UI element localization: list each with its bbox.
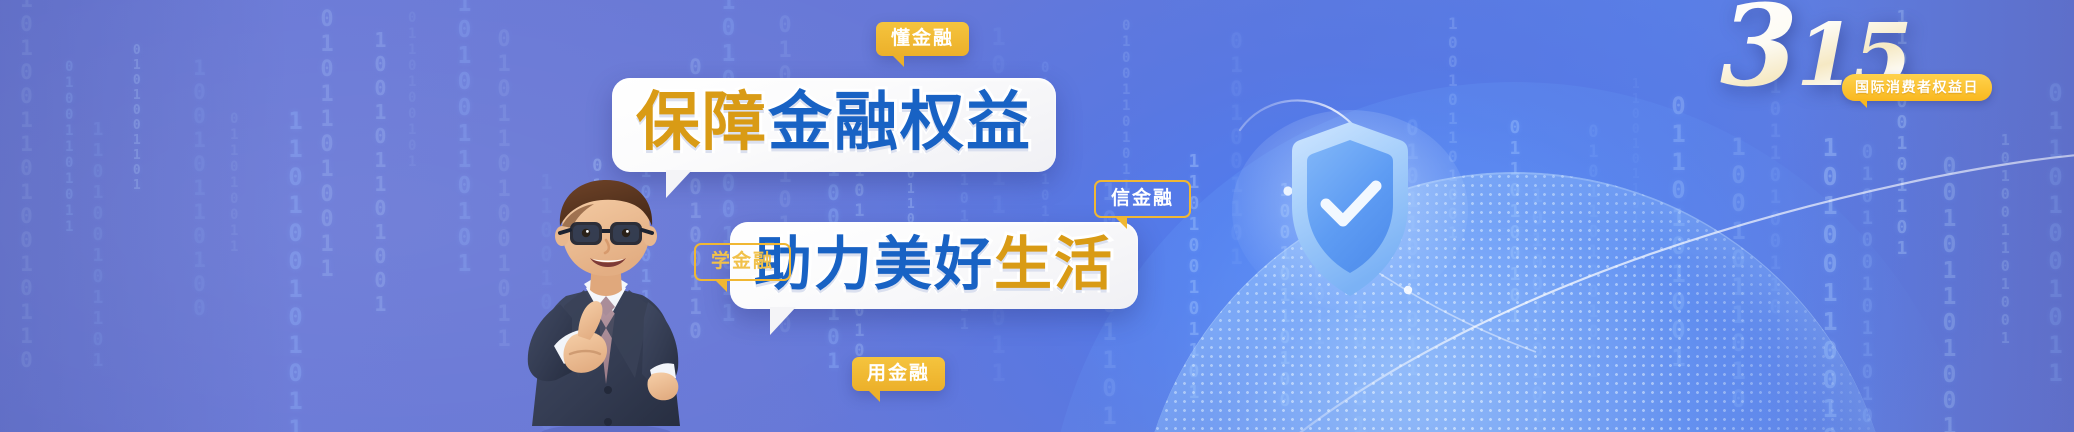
businessman-thumbs-up-icon bbox=[498, 178, 710, 432]
logo-315: 315 国际消费者权益日 bbox=[1706, 0, 2036, 108]
headline-line-1-gold: 保障 bbox=[636, 86, 768, 160]
logo-badge: 国际消费者权益日 bbox=[1842, 74, 1992, 101]
tag-dong-jinrong: 懂金融 bbox=[876, 22, 969, 56]
headline-line-2-gold: 生活 bbox=[994, 230, 1114, 298]
logo-digit-3: 3 bbox=[1720, 0, 1796, 112]
headline-card-primary: 保障金融权益 bbox=[612, 78, 1056, 172]
headline-line-2: 助力美好生活 bbox=[754, 232, 1114, 297]
headline-line-1: 保障金融权益 bbox=[636, 88, 1032, 160]
headline-card-secondary: 助力美好生活 bbox=[730, 222, 1138, 309]
tag-xin-jinrong: 信金融 bbox=[1094, 180, 1191, 218]
headline-line-1-blue: 金融权益 bbox=[768, 86, 1032, 160]
tag-yong-jinrong: 用金融 bbox=[852, 357, 945, 391]
banner-root: 1010011010010110010011010111101001011010… bbox=[0, 0, 2074, 432]
